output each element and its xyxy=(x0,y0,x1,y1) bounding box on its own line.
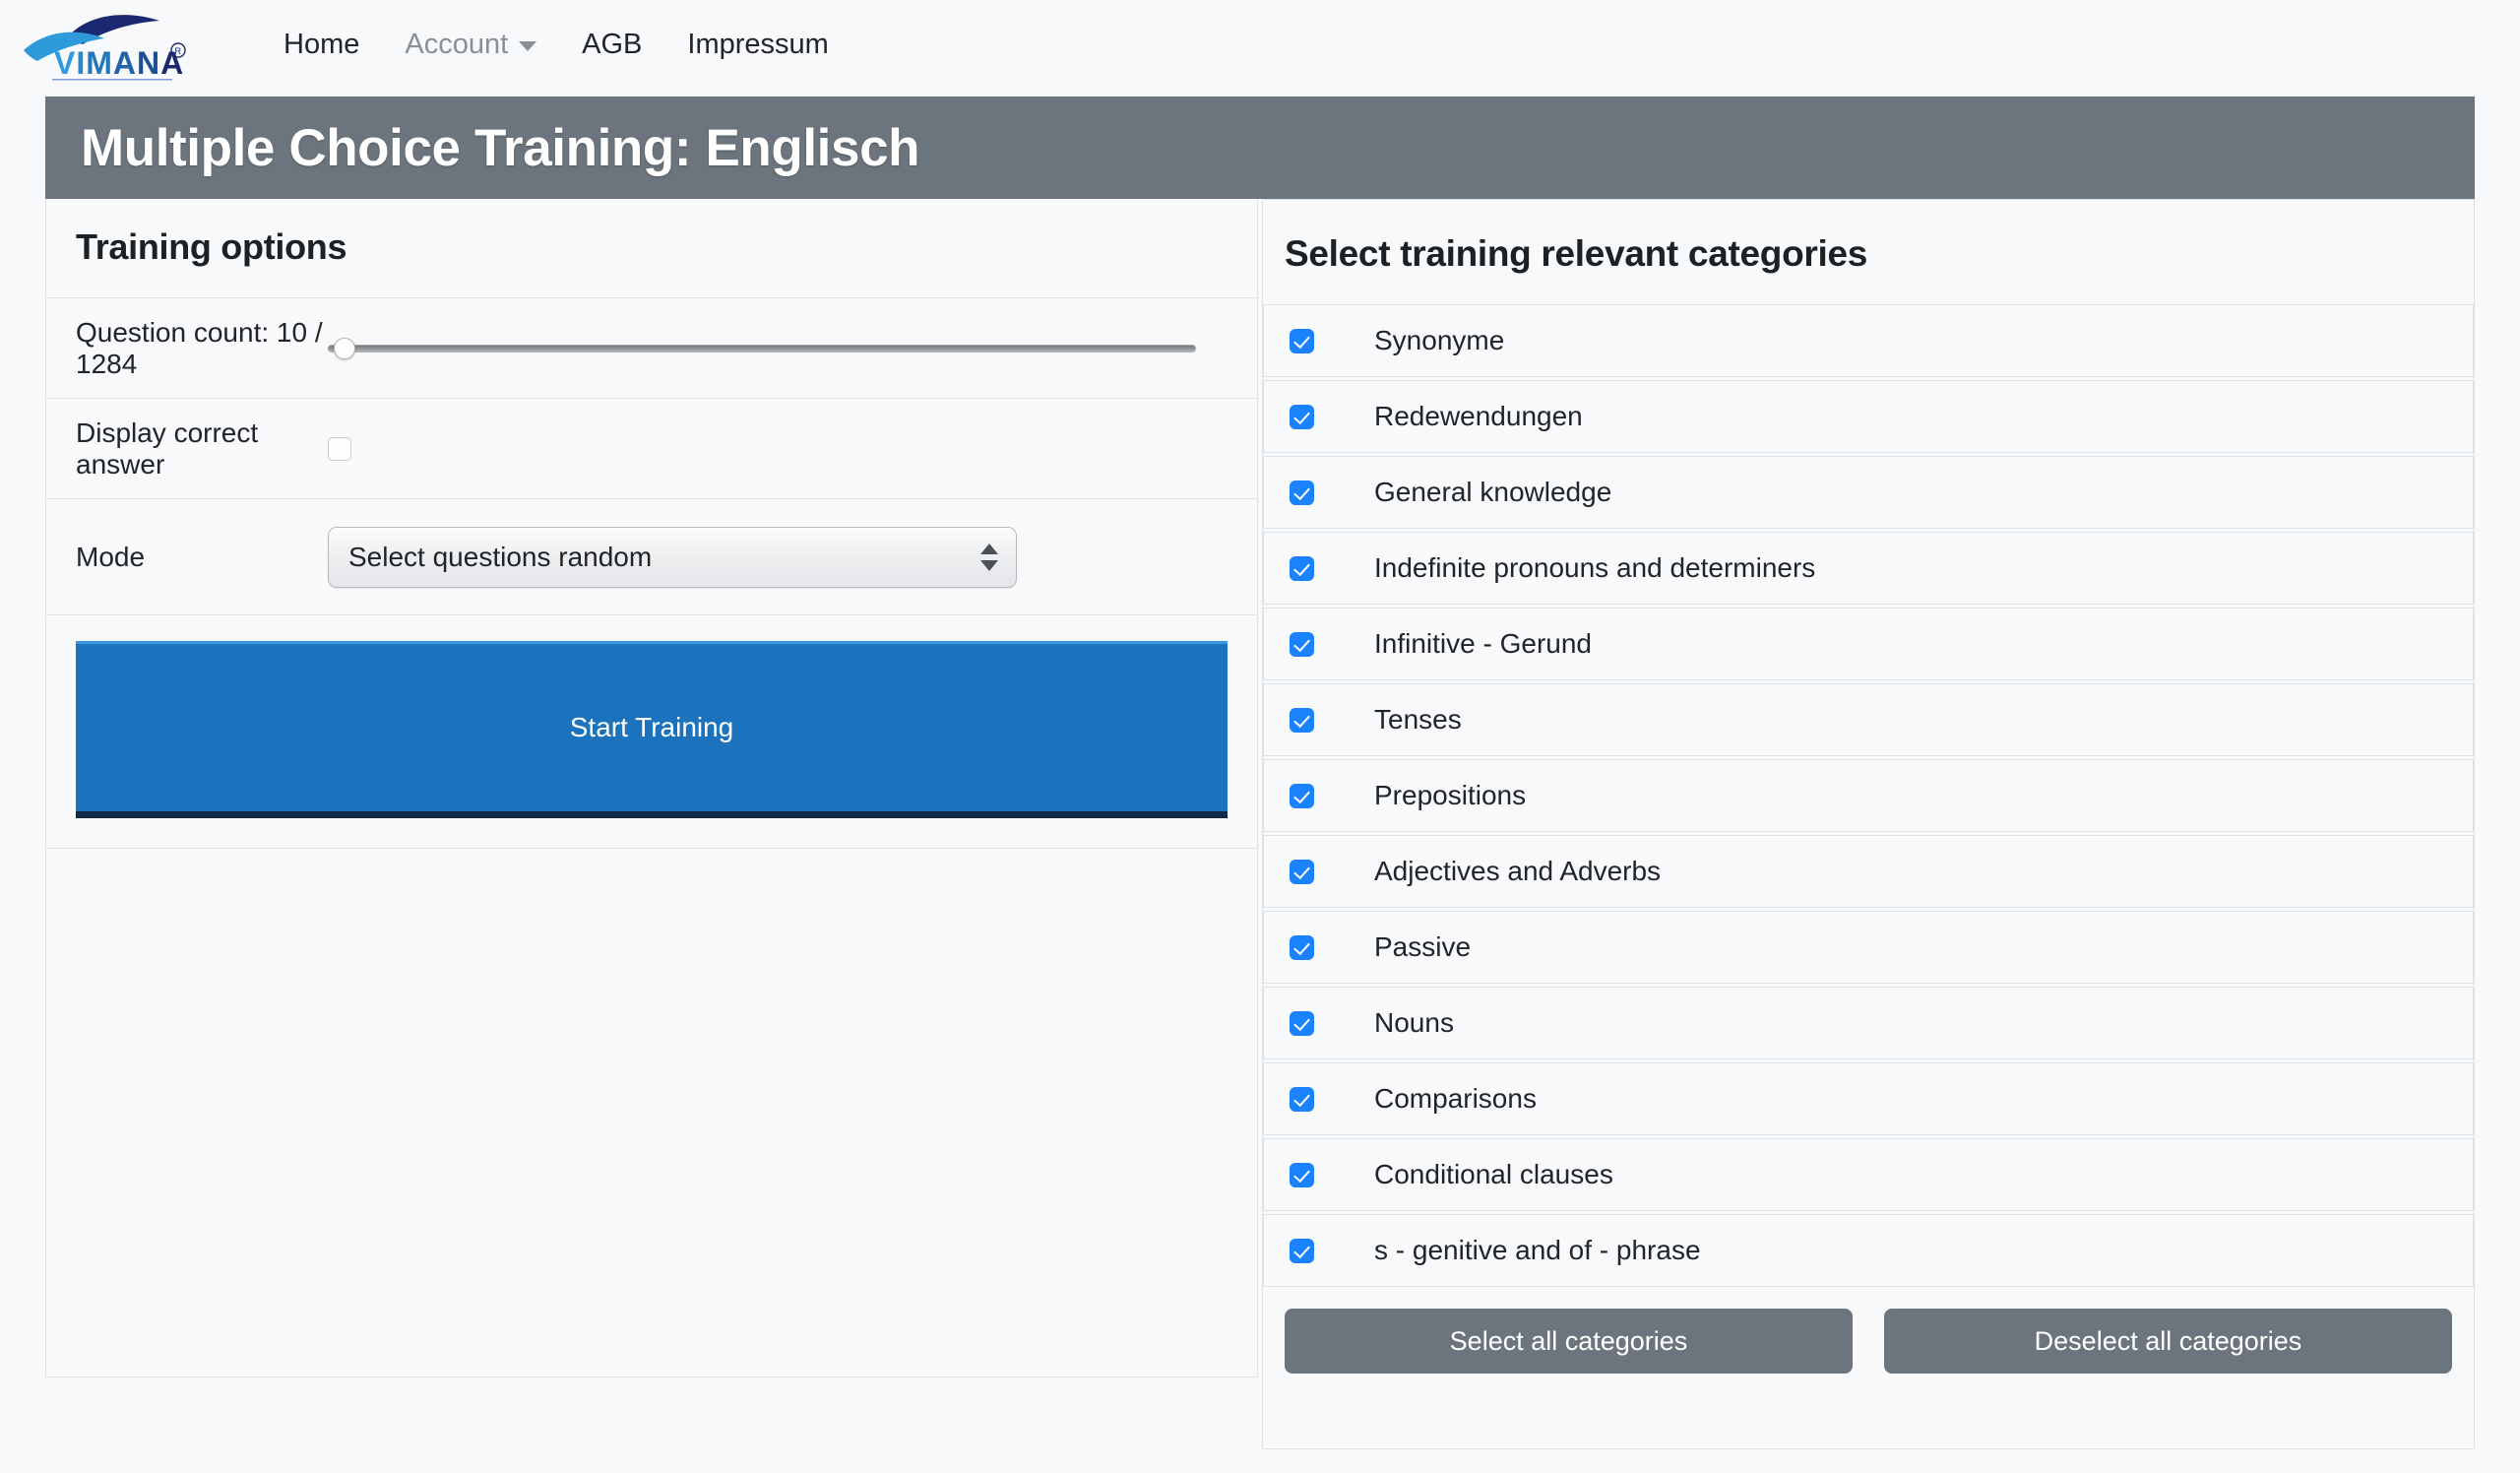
question-count-label: Question count: 10 / 1284 xyxy=(76,317,328,380)
category-checkbox-cell xyxy=(1290,935,1345,960)
nav-link-home-label: Home xyxy=(283,31,359,59)
slider-track xyxy=(328,345,1196,352)
category-label: Conditional clauses xyxy=(1374,1159,1613,1190)
category-label: Prepositions xyxy=(1374,780,1526,811)
nav-item-agb[interactable]: AGB xyxy=(559,31,664,59)
category-checkbox[interactable] xyxy=(1290,1087,1314,1112)
category-checkbox[interactable] xyxy=(1290,1011,1314,1036)
start-training-button[interactable]: Start Training xyxy=(76,641,1228,818)
display-correct-answer-checkbox[interactable] xyxy=(328,437,351,461)
category-checkbox-cell xyxy=(1290,480,1345,505)
chevron-down-icon xyxy=(519,41,536,51)
category-checkbox[interactable] xyxy=(1290,860,1314,884)
category-checkbox[interactable] xyxy=(1290,329,1314,353)
category-checkbox-cell xyxy=(1290,860,1345,884)
display-correct-answer-row: Display correct answer xyxy=(45,399,1258,499)
nav-item-home[interactable]: Home xyxy=(261,31,382,59)
nav-item-account[interactable]: Account xyxy=(382,31,559,59)
training-options-header: Training options xyxy=(45,199,1258,298)
categories-list: SynonymeRedewendungenGeneral knowledgeIn… xyxy=(1263,304,2474,1287)
nav-link-home[interactable]: Home xyxy=(261,31,382,59)
nav-item-impressum[interactable]: Impressum xyxy=(664,31,850,59)
svg-text:VIMANA: VIMANA xyxy=(54,45,184,81)
nav-link-account-label: Account xyxy=(405,31,508,59)
category-checkbox[interactable] xyxy=(1290,1239,1314,1263)
category-label: Comparisons xyxy=(1374,1083,1537,1115)
category-row[interactable]: Conditional clauses xyxy=(1263,1138,2474,1211)
svg-text:R: R xyxy=(175,46,182,56)
category-row[interactable]: Indefinite pronouns and determiners xyxy=(1263,532,2474,605)
question-count-row: Question count: 10 / 1284 xyxy=(45,298,1258,399)
vimana-logo-icon: VIMANA R xyxy=(22,7,204,82)
category-row[interactable]: s - genitive and of - phrase xyxy=(1263,1214,2474,1287)
categories-panel-box: Select training relevant categories Syno… xyxy=(1262,199,2475,1449)
mode-label: Mode xyxy=(76,542,328,573)
category-checkbox-cell xyxy=(1290,405,1345,429)
category-checkbox-cell xyxy=(1290,784,1345,808)
left-panel-filler xyxy=(45,849,1258,1377)
top-navbar: VIMANA R Home Account AGB Impressum xyxy=(0,0,2520,89)
category-row[interactable]: Prepositions xyxy=(1263,759,2474,832)
mode-select-value: Select questions random xyxy=(348,542,652,573)
category-row[interactable]: Adjectives and Adverbs xyxy=(1263,835,2474,908)
category-label: Indefinite pronouns and determiners xyxy=(1374,552,1815,584)
category-checkbox-cell xyxy=(1290,556,1345,581)
chevron-down-icon xyxy=(980,560,998,571)
categories-panel: Select training relevant categories Syno… xyxy=(1262,199,2475,1449)
category-row[interactable]: Passive xyxy=(1263,911,2474,984)
category-row[interactable]: Tenses xyxy=(1263,683,2474,756)
category-row[interactable]: Comparisons xyxy=(1263,1062,2474,1135)
category-row[interactable]: Synonyme xyxy=(1263,304,2474,377)
nav-link-impressum-label: Impressum xyxy=(687,31,828,59)
category-row[interactable]: Nouns xyxy=(1263,987,2474,1059)
stepper-arrows-icon xyxy=(980,544,998,571)
category-label: Infinitive - Gerund xyxy=(1374,628,1592,660)
categories-actions: Select all categories Deselect all categ… xyxy=(1263,1287,2474,1374)
category-checkbox-cell xyxy=(1290,1087,1345,1112)
vimana-logo[interactable]: VIMANA R xyxy=(22,7,204,82)
question-count-slider[interactable] xyxy=(328,336,1196,361)
select-all-categories-button[interactable]: Select all categories xyxy=(1285,1309,1853,1374)
nav-link-agb[interactable]: AGB xyxy=(559,31,664,59)
nav-link-agb-label: AGB xyxy=(582,31,642,59)
category-checkbox[interactable] xyxy=(1290,1163,1314,1187)
start-training-row: Start Training xyxy=(45,615,1258,849)
training-options-panel: Training options Question count: 10 / 12… xyxy=(45,199,1258,1377)
training-options-title: Training options xyxy=(76,226,1228,268)
category-checkbox[interactable] xyxy=(1290,784,1314,808)
category-checkbox[interactable] xyxy=(1290,632,1314,657)
display-correct-answer-label: Display correct answer xyxy=(76,417,328,480)
category-checkbox[interactable] xyxy=(1290,935,1314,960)
category-row[interactable]: Redewendungen xyxy=(1263,380,2474,453)
category-label: Redewendungen xyxy=(1374,401,1583,432)
mode-select[interactable]: Select questions random xyxy=(328,527,1017,588)
chevron-up-icon xyxy=(980,544,998,554)
category-row[interactable]: General knowledge xyxy=(1263,456,2474,529)
category-checkbox[interactable] xyxy=(1290,405,1314,429)
category-row[interactable]: Infinitive - Gerund xyxy=(1263,608,2474,680)
category-checkbox-cell xyxy=(1290,632,1345,657)
categories-header: Select training relevant categories xyxy=(1263,200,2474,304)
category-checkbox-cell xyxy=(1290,1239,1345,1263)
category-checkbox[interactable] xyxy=(1290,556,1314,581)
page-title: Multiple Choice Training: Englisch xyxy=(81,118,919,178)
mode-row: Mode Select questions random xyxy=(45,499,1258,615)
category-label: Passive xyxy=(1374,931,1471,963)
deselect-all-categories-button[interactable]: Deselect all categories xyxy=(1884,1309,2452,1374)
nav-links: Home Account AGB Impressum xyxy=(261,31,851,59)
category-checkbox-cell xyxy=(1290,329,1345,353)
category-checkbox[interactable] xyxy=(1290,480,1314,505)
question-count-slider-wrap xyxy=(328,336,1228,361)
category-label: General knowledge xyxy=(1374,477,1611,508)
category-checkbox-cell xyxy=(1290,1163,1345,1187)
category-label: s - genitive and of - phrase xyxy=(1374,1235,1701,1266)
nav-link-account[interactable]: Account xyxy=(382,31,559,59)
category-checkbox-cell xyxy=(1290,708,1345,733)
main-content: Training options Question count: 10 / 12… xyxy=(45,199,2475,1449)
category-checkbox-cell xyxy=(1290,1011,1345,1036)
category-label: Tenses xyxy=(1374,704,1462,736)
mode-select-wrap: Select questions random xyxy=(328,527,1228,588)
page-header-bar: Multiple Choice Training: Englisch xyxy=(45,96,2475,199)
category-label: Nouns xyxy=(1374,1007,1454,1039)
category-label: Synonyme xyxy=(1374,325,1504,356)
category-checkbox[interactable] xyxy=(1290,708,1314,733)
slider-thumb[interactable] xyxy=(334,338,355,359)
categories-title: Select training relevant categories xyxy=(1285,233,2452,275)
nav-link-impressum[interactable]: Impressum xyxy=(664,31,850,59)
category-label: Adjectives and Adverbs xyxy=(1374,856,1661,887)
